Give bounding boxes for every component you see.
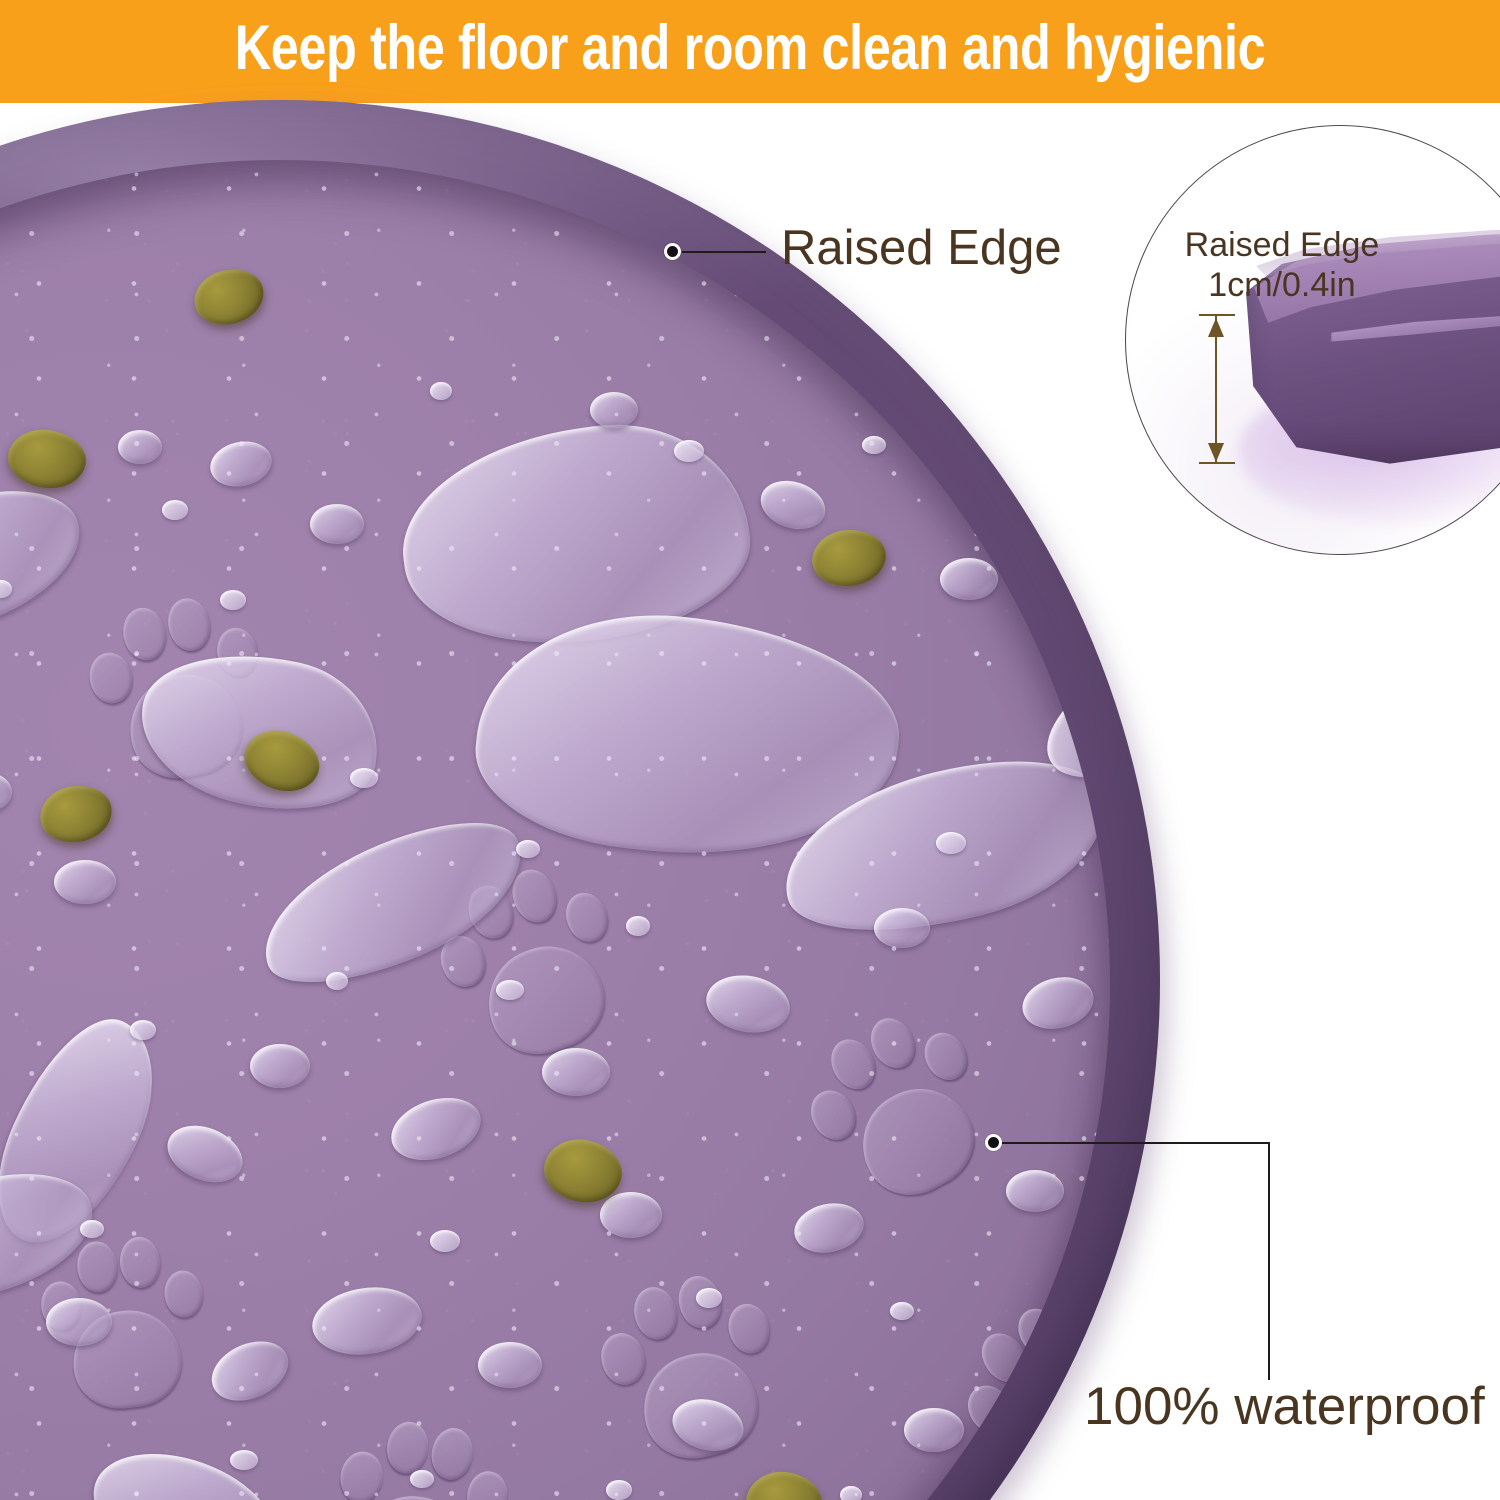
waterproof-dot-marker bbox=[985, 1134, 1002, 1151]
inset-label-line-2: 1cm/0.4in bbox=[1132, 266, 1432, 306]
raised-edge-detail-inset: Raised Edge 1cm/0.4in bbox=[1125, 125, 1500, 555]
banner-headline: Keep the floor and room clean and hygien… bbox=[150, 0, 1350, 103]
inset-label-line-1: Raised Edge bbox=[1132, 226, 1432, 266]
waterproof-label: 100% waterproof bbox=[1084, 1380, 1485, 1433]
header-banner: Keep the floor and room clean and hygien… bbox=[0, 0, 1500, 103]
dimension-tick-top bbox=[1199, 314, 1235, 316]
dimension-arrow-down-icon bbox=[1208, 443, 1224, 462]
dimension-line bbox=[1215, 316, 1217, 464]
mat-inner-surface bbox=[0, 160, 1110, 1500]
raised-edge-label: Raised Edge bbox=[781, 224, 1062, 273]
pet-feeding-mat bbox=[0, 100, 1160, 1500]
product-marketing-image: Keep the floor and room clean and hygien… bbox=[0, 0, 1500, 1500]
dimension-arrow-up-icon bbox=[1208, 318, 1224, 337]
dimension-tick-bottom bbox=[1199, 462, 1235, 464]
raised-edge-leader-line bbox=[682, 251, 766, 253]
waterproof-leader-vertical bbox=[1268, 1142, 1270, 1380]
water-speck-layer bbox=[0, 160, 1110, 1500]
inset-dimension-label: Raised Edge 1cm/0.4in bbox=[1132, 226, 1432, 306]
waterproof-leader-horizontal bbox=[1002, 1142, 1270, 1144]
raised-edge-dot-marker bbox=[664, 243, 681, 260]
